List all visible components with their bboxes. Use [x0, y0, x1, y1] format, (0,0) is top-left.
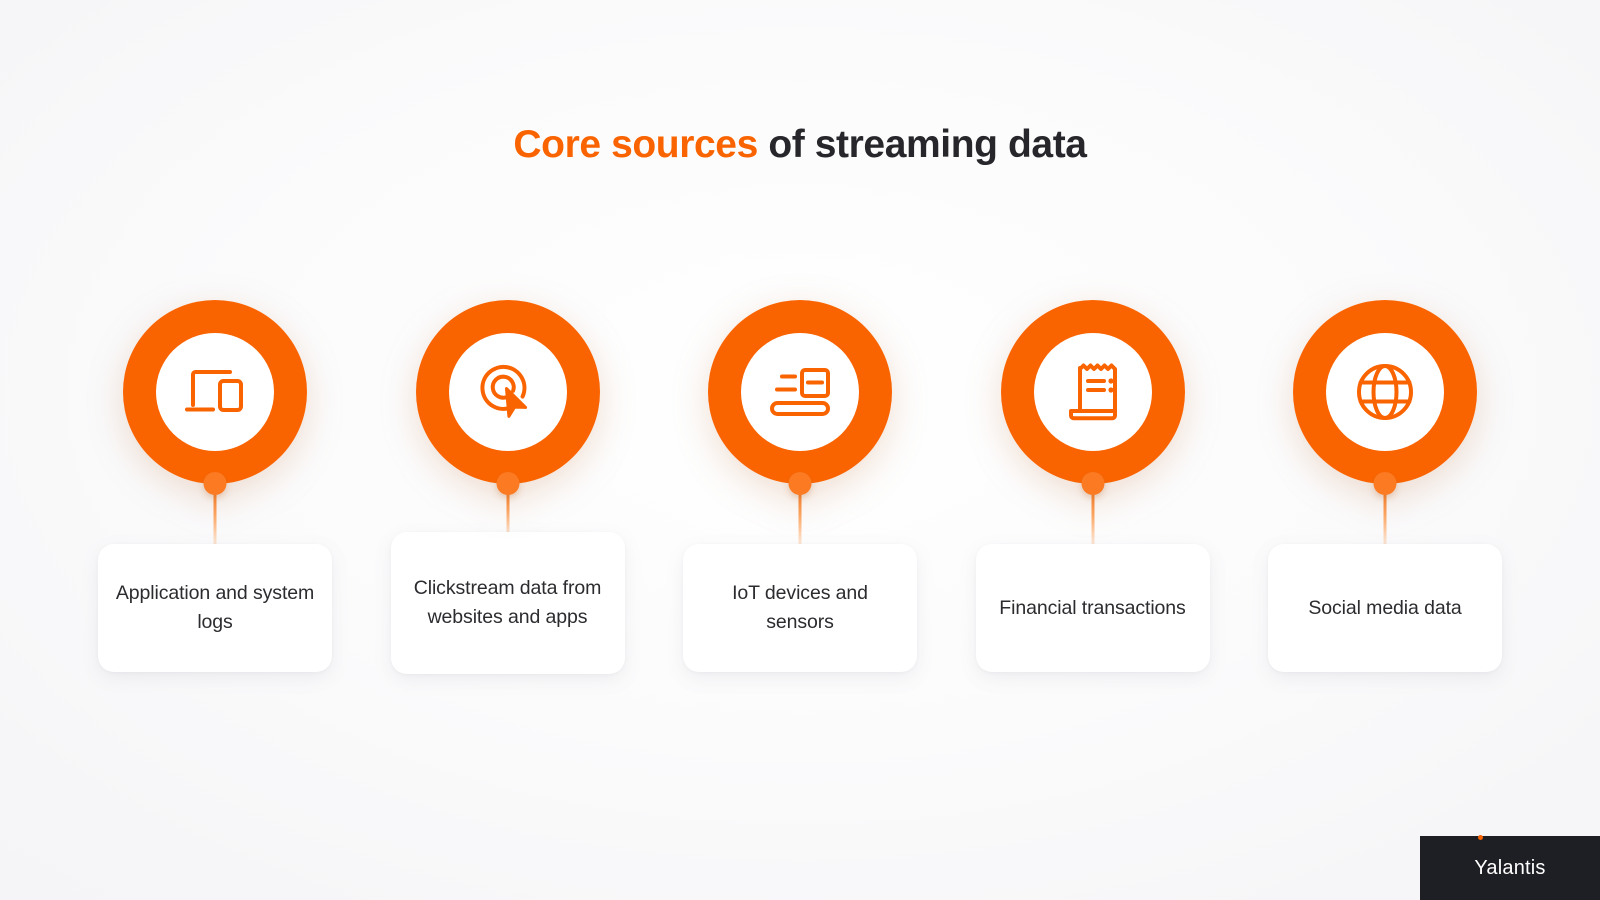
- item-application-and-system-logs: Application and system logs: [84, 300, 346, 672]
- icon-badge-inner: [156, 333, 274, 451]
- title-container: Core sources of streaming data: [0, 122, 1600, 169]
- icon-badge: [416, 300, 600, 484]
- icon-badge-inner: [449, 333, 567, 451]
- icon-badge: [708, 300, 892, 484]
- item-financial-transactions: Financial transactions: [962, 300, 1224, 672]
- icon-badge: [123, 300, 307, 484]
- icon-badge-inner: [741, 333, 859, 451]
- infographic-slide: Core sources of streaming data: [0, 0, 1600, 900]
- brand-badge: Yalantis: [1420, 836, 1600, 900]
- item-card-label: Clickstream data from websites and apps: [407, 574, 609, 632]
- brand-accent-dot: [1478, 835, 1483, 840]
- icon-badge: [1001, 300, 1185, 484]
- brand-name: Yalantis: [1474, 857, 1545, 880]
- page-title-accent: Core sources: [513, 123, 757, 166]
- item-iot-devices-and-sensors: IoT devices and sensors: [669, 300, 931, 672]
- item-card[interactable]: Clickstream data from websites and apps: [391, 532, 625, 674]
- items-row: Application and system logs: [84, 300, 1516, 674]
- item-clickstream-data: Clickstream data from websites and apps: [377, 300, 639, 674]
- item-card-label: Social media data: [1308, 594, 1461, 623]
- item-card[interactable]: Financial transactions: [976, 544, 1210, 672]
- icon-badge: [1293, 300, 1477, 484]
- item-social-media-data: Social media data: [1254, 300, 1516, 672]
- cursor-click-icon: [478, 362, 538, 422]
- item-card[interactable]: IoT devices and sensors: [683, 544, 917, 672]
- connector-dot: [1081, 472, 1104, 495]
- item-card[interactable]: Social media data: [1268, 544, 1502, 672]
- iot-device-icon: [768, 367, 832, 417]
- icon-badge-inner: [1034, 333, 1152, 451]
- devices-icon: [184, 364, 246, 420]
- item-card-label: Financial transactions: [999, 594, 1185, 623]
- globe-icon: [1356, 363, 1414, 421]
- connector-dot: [1374, 472, 1397, 495]
- item-card-label: IoT devices and sensors: [699, 579, 901, 637]
- icon-badge-inner: [1326, 333, 1444, 451]
- receipt-icon: [1067, 362, 1119, 422]
- item-card-label: Application and system logs: [114, 579, 316, 637]
- connector-dot: [496, 472, 519, 495]
- connector-dot: [789, 472, 812, 495]
- item-card[interactable]: Application and system logs: [98, 544, 332, 672]
- page-title-rest: of streaming data: [758, 123, 1087, 166]
- connector-dot: [204, 472, 227, 495]
- page-title: Core sources of streaming data: [0, 122, 1600, 169]
